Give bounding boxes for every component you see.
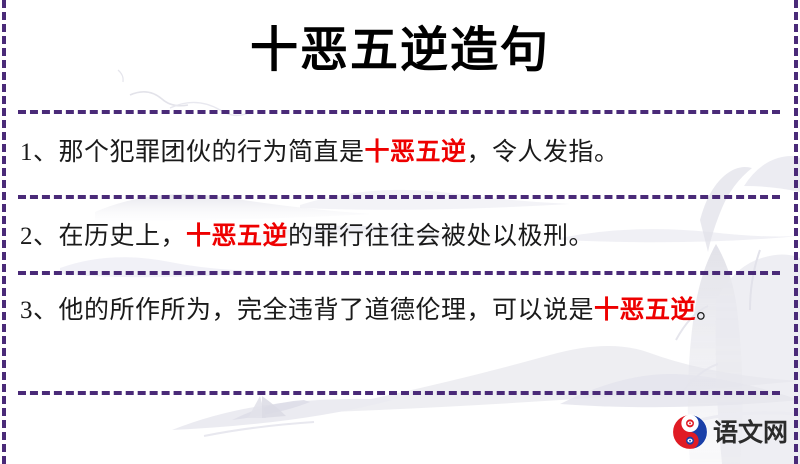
sentence-item-2: 2、在历史上，十恶五逆的罪行往往会被处以极刑。 (20, 218, 775, 256)
sentence-3-after: 。 (696, 297, 722, 324)
site-logo[interactable]: 语文网 (672, 414, 788, 450)
sentence-1-keyword: 十恶五逆 (365, 139, 467, 166)
divider-after-sentence-1 (18, 195, 780, 199)
sentence-1-after: ，令人发指。 (467, 139, 620, 166)
sentence-3-keyword: 十恶五逆 (594, 297, 696, 324)
sentence-3-before: 他的所作所为，完全违背了道德伦理，可以说是 (59, 297, 595, 324)
page-title: 十恶五逆造句 (0, 20, 800, 80)
sentence-2-before: 在历史上， (59, 223, 187, 250)
site-logo-text: 语文网 (713, 420, 788, 445)
sentence-item-3: 3、他的所作所为，完全违背了道德伦理，可以说是十恶五逆。 (20, 292, 775, 330)
divider-bottom (18, 391, 780, 395)
page-border-left (2, 0, 6, 464)
sentence-1-before: 那个犯罪团伙的行为简直是 (59, 139, 365, 166)
sentence-3-index: 3、 (20, 297, 59, 324)
sentence-2-keyword: 十恶五逆 (186, 223, 288, 250)
document-page: 十恶五逆造句 1、那个犯罪团伙的行为简直是十恶五逆，令人发指。 2、在历史上，十… (0, 0, 800, 464)
yin-yang-circle-icon (672, 414, 708, 450)
divider-top (18, 110, 780, 114)
sentence-item-1: 1、那个犯罪团伙的行为简直是十恶五逆，令人发指。 (20, 134, 775, 172)
sentence-2-index: 2、 (20, 223, 59, 250)
sentence-2-after: 的罪行往往会被处以极刑。 (288, 223, 594, 250)
sentence-1-index: 1、 (20, 139, 59, 166)
divider-after-sentence-2 (18, 271, 780, 275)
page-border-right (794, 0, 798, 464)
